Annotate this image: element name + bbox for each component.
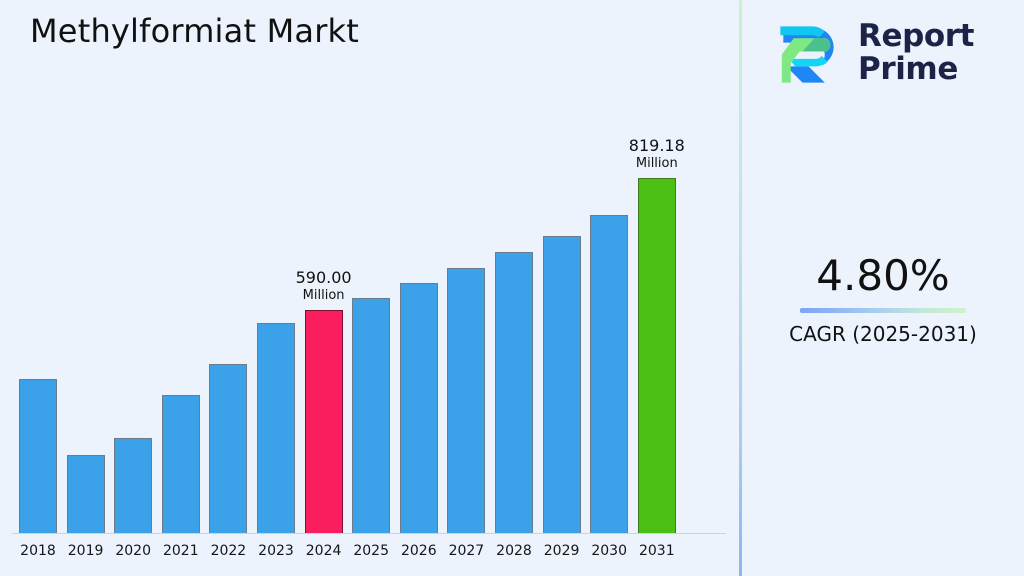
- bar-2022[interactable]: [209, 0, 247, 534]
- side-panel: Report Prime 4.80% CAGR (2025-2031): [742, 0, 1024, 576]
- report-prime-logo-icon: [770, 16, 844, 90]
- brand-logo: Report Prime: [770, 14, 1010, 92]
- bar-chart: 590.00Million819.18Million 2018201920202…: [0, 0, 739, 576]
- bar-rect-2029[interactable]: [543, 236, 581, 534]
- bar-2026[interactable]: [400, 0, 438, 534]
- bar-2018[interactable]: [19, 0, 57, 534]
- bar-rect-2020[interactable]: [114, 438, 152, 534]
- screenshot-root: Methylformiat Markt 590.00Million819.18M…: [0, 0, 1024, 576]
- x-axis-line: [12, 533, 726, 534]
- x-tick-2029: 2029: [537, 542, 587, 560]
- cagr-value: 4.80%: [742, 250, 1024, 302]
- bar-rect-2027[interactable]: [447, 268, 485, 534]
- brand-line-1: Report: [858, 20, 974, 53]
- bar-2031[interactable]: 819.18Million: [638, 0, 676, 534]
- bar-value-amount-2024: 590.00: [296, 268, 352, 287]
- bar-2030[interactable]: [590, 0, 628, 534]
- bar-rect-2019[interactable]: [67, 455, 105, 534]
- bar-2027[interactable]: [447, 0, 485, 534]
- x-tick-2019: 2019: [61, 542, 111, 560]
- x-tick-2018: 2018: [13, 542, 63, 560]
- bar-2028[interactable]: [495, 0, 533, 534]
- bar-value-amount-2031: 819.18: [629, 136, 685, 155]
- bar-rect-2018[interactable]: [19, 379, 57, 534]
- bar-2020[interactable]: [114, 0, 152, 534]
- x-tick-2024: 2024: [299, 542, 349, 560]
- bar-2029[interactable]: [543, 0, 581, 534]
- x-tick-2027: 2027: [441, 542, 491, 560]
- bar-2019[interactable]: [67, 0, 105, 534]
- bar-2024[interactable]: 590.00Million: [305, 0, 343, 534]
- x-tick-2021: 2021: [156, 542, 206, 560]
- bar-rect-2021[interactable]: [162, 395, 200, 534]
- bar-rect-2022[interactable]: [209, 364, 247, 534]
- bar-2023[interactable]: [257, 0, 295, 534]
- bar-rect-2031[interactable]: [638, 178, 676, 534]
- x-tick-2023: 2023: [251, 542, 301, 560]
- bar-rect-2025[interactable]: [352, 298, 390, 534]
- bar-2021[interactable]: [162, 0, 200, 534]
- x-tick-2022: 2022: [203, 542, 253, 560]
- bar-rect-2030[interactable]: [590, 215, 628, 534]
- x-tick-2031: 2031: [632, 542, 682, 560]
- cagr-block: 4.80% CAGR (2025-2031): [742, 250, 1024, 347]
- cagr-divider-rule: [800, 308, 966, 313]
- brand-line-2: Prime: [858, 53, 974, 86]
- bar-2025[interactable]: [352, 0, 390, 534]
- bar-value-label-2024: 590.00Million: [296, 268, 352, 304]
- bar-value-unit-2031: Million: [629, 156, 685, 172]
- x-tick-2020: 2020: [108, 542, 158, 560]
- bar-rect-2023[interactable]: [257, 323, 295, 534]
- cagr-caption: CAGR (2025-2031): [742, 321, 1024, 347]
- bar-rect-2028[interactable]: [495, 252, 533, 534]
- brand-wordmark: Report Prime: [858, 20, 974, 86]
- x-tick-2030: 2030: [584, 542, 634, 560]
- bar-rect-2026[interactable]: [400, 283, 438, 534]
- bar-value-label-2031: 819.18Million: [629, 136, 685, 172]
- x-tick-2026: 2026: [394, 542, 444, 560]
- bar-rect-2024[interactable]: [305, 310, 343, 534]
- bar-value-unit-2024: Million: [296, 288, 352, 304]
- x-tick-2025: 2025: [346, 542, 396, 560]
- x-tick-2028: 2028: [489, 542, 539, 560]
- bars-layer: 590.00Million819.18Million: [0, 0, 739, 534]
